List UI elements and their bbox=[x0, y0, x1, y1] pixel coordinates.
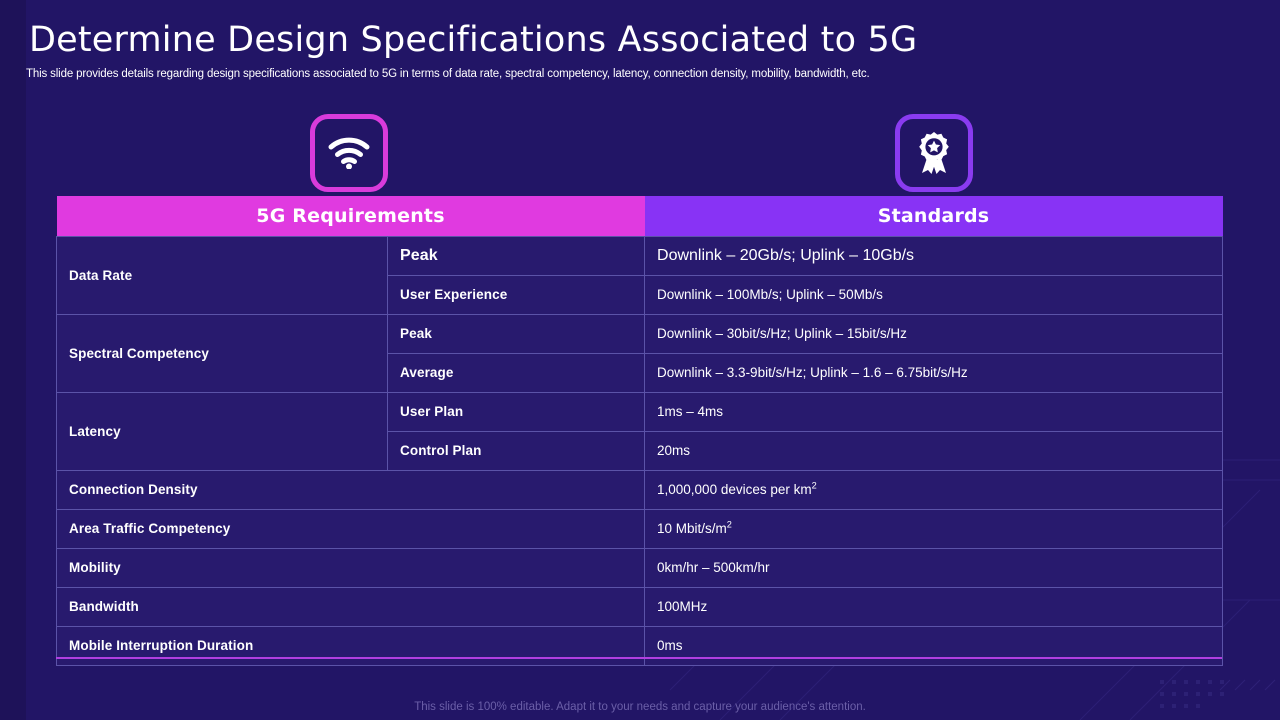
requirement-category-cell: Connection Density bbox=[57, 470, 645, 509]
standard-value-cell: 1ms – 4ms bbox=[645, 392, 1223, 431]
standard-value-cell: Downlink – 3.3-9bit/s/Hz; Uplink – 1.6 –… bbox=[645, 353, 1223, 392]
standard-value-cell: Downlink – 100Mb/s; Uplink – 50Mb/s bbox=[645, 275, 1223, 314]
requirement-sub-cell: Peak bbox=[388, 236, 645, 275]
table-bottom-accent bbox=[56, 657, 1222, 659]
column-header-standards: Standards bbox=[645, 196, 1223, 236]
table-row: Area Traffic Competency10 Mbit/s/m2 bbox=[57, 509, 1223, 548]
requirement-sub-cell: Control Plan bbox=[388, 431, 645, 470]
standard-value-cell: Downlink – 30bit/s/Hz; Uplink – 15bit/s/… bbox=[645, 314, 1223, 353]
requirement-category-cell: Bandwidth bbox=[57, 587, 645, 626]
requirement-category-cell: Mobile Interruption Duration bbox=[57, 626, 645, 665]
table-row: Mobility0km/hr – 500km/hr bbox=[57, 548, 1223, 587]
table-body: Data RatePeakDownlink – 20Gb/s; Uplink –… bbox=[57, 236, 1223, 665]
requirement-category-cell: Mobility bbox=[57, 548, 645, 587]
award-badge-icon bbox=[914, 132, 954, 174]
requirement-sub-cell: User Plan bbox=[388, 392, 645, 431]
requirement-sub-cell: User Experience bbox=[388, 275, 645, 314]
wifi-icon-tile bbox=[310, 114, 388, 192]
standard-value-cell: 1,000,000 devices per km2 bbox=[645, 470, 1223, 509]
page-subtitle: This slide provides details regarding de… bbox=[26, 68, 870, 80]
standard-value-cell: 0ms bbox=[645, 626, 1223, 665]
award-badge-icon-tile bbox=[895, 114, 973, 192]
requirement-sub-cell: Average bbox=[388, 353, 645, 392]
wifi-icon bbox=[328, 137, 370, 169]
table-row: Spectral CompetencyPeakDownlink – 30bit/… bbox=[57, 314, 1223, 353]
page-title: Determine Design Specifications Associat… bbox=[29, 20, 917, 60]
requirement-sub-cell: Peak bbox=[388, 314, 645, 353]
requirement-category-cell: Latency bbox=[57, 392, 388, 470]
requirement-category-cell: Area Traffic Competency bbox=[57, 509, 645, 548]
standard-value-cell: Downlink – 20Gb/s; Uplink – 10Gb/s bbox=[645, 236, 1223, 275]
left-edge-band bbox=[0, 0, 26, 720]
requirement-category-cell: Spectral Competency bbox=[57, 314, 388, 392]
column-header-requirements: 5G Requirements bbox=[57, 196, 645, 236]
requirement-category-cell: Data Rate bbox=[57, 236, 388, 314]
table-header-row: 5G Requirements Standards bbox=[57, 196, 1223, 236]
standard-value-cell: 100MHz bbox=[645, 587, 1223, 626]
standard-value-cell: 10 Mbit/s/m2 bbox=[645, 509, 1223, 548]
standard-value-cell: 20ms bbox=[645, 431, 1223, 470]
footer-note: This slide is 100% editable. Adapt it to… bbox=[0, 701, 1280, 713]
standard-value-cell: 0km/hr – 500km/hr bbox=[645, 548, 1223, 587]
table-row: LatencyUser Plan1ms – 4ms bbox=[57, 392, 1223, 431]
specifications-table: 5G Requirements Standards Data RatePeakD… bbox=[56, 196, 1223, 666]
table-row: Bandwidth100MHz bbox=[57, 587, 1223, 626]
table-row: Connection Density1,000,000 devices per … bbox=[57, 470, 1223, 509]
table-row: Data RatePeakDownlink – 20Gb/s; Uplink –… bbox=[57, 236, 1223, 275]
table-row: Mobile Interruption Duration0ms bbox=[57, 626, 1223, 665]
